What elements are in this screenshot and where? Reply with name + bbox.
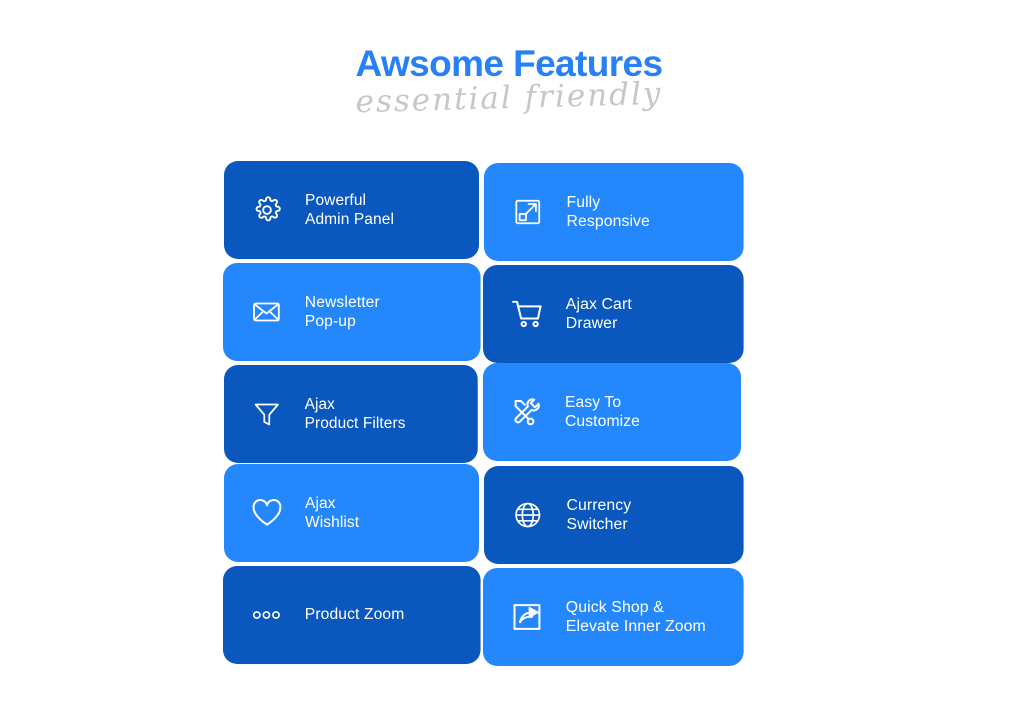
funnel-filter-icon <box>248 395 286 433</box>
feature-card-label: Product Zoom <box>305 605 405 625</box>
feature-card-label: Currency Switcher <box>566 496 631 535</box>
feature-card-product-zoom[interactable]: Product Zoom <box>223 566 481 664</box>
feature-card-label: Ajax Wishlist <box>305 494 359 533</box>
page-header: Awsome Features essential friendly <box>0 42 1018 124</box>
feature-card-label: Ajax Cart Drawer <box>566 295 632 334</box>
responsive-expand-icon <box>508 193 547 231</box>
feature-card-ajax-product-filters[interactable]: Ajax Product Filters <box>224 365 478 463</box>
feature-card-label: Ajax Product Filters <box>305 395 406 434</box>
feature-card-label: Fully Responsive <box>566 193 649 232</box>
wrench-screwdriver-icon <box>507 393 545 431</box>
feature-card-label: Powerful Admin Panel <box>305 191 394 230</box>
feature-card-quick-shop-elevate-inner-zoom[interactable]: Quick Shop & Elevate Inner Zoom <box>483 568 744 666</box>
feature-card-powerful-admin-panel[interactable]: Powerful Admin Panel <box>224 161 479 259</box>
feature-card-newsletter-popup[interactable]: Newsletter Pop-up <box>223 263 481 361</box>
features-grid: Powerful Admin Panel Fully Responsive Ne… <box>224 162 746 664</box>
feature-card-easy-to-customize[interactable]: Easy To Customize <box>483 363 741 461</box>
feature-card-label: Easy To Customize <box>565 393 640 432</box>
heart-icon <box>248 494 286 532</box>
globe-icon <box>508 496 547 534</box>
shopping-cart-icon <box>508 295 547 333</box>
feature-card-label: Newsletter Pop-up <box>305 293 380 332</box>
feature-card-ajax-cart-drawer[interactable]: Ajax Cart Drawer <box>483 265 744 363</box>
three-dots-icon <box>247 596 285 634</box>
gear-icon <box>248 191 286 229</box>
page-subtitle-wrap: essential friendly <box>0 78 1018 124</box>
feature-card-label: Quick Shop & Elevate Inner Zoom <box>566 598 706 637</box>
share-export-icon <box>508 598 547 636</box>
envelope-icon <box>247 293 285 331</box>
feature-card-currency-switcher[interactable]: Currency Switcher <box>484 466 744 564</box>
feature-card-ajax-wishlist[interactable]: Ajax Wishlist <box>224 464 479 562</box>
feature-card-fully-responsive[interactable]: Fully Responsive <box>484 163 744 261</box>
